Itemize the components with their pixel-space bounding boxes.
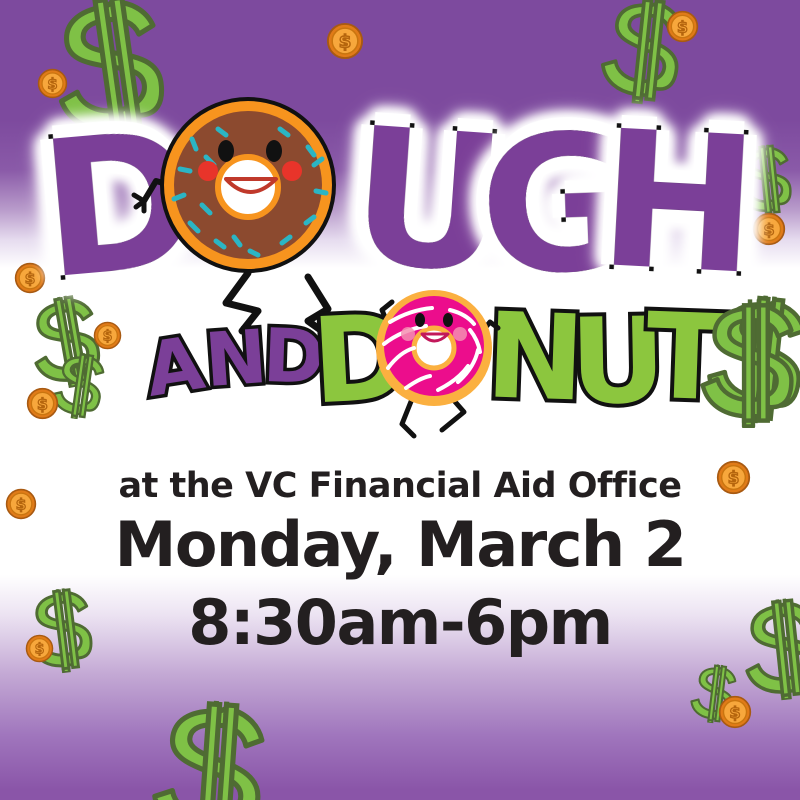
title-dollar-sign-donuts <box>698 292 800 428</box>
poster-canvas: $$$$$$$$$$$ D U G H <box>0 0 800 800</box>
title-artwork: D U G H <box>0 0 800 800</box>
title-letter-a: A <box>141 326 209 408</box>
date-line: Monday, March 2 <box>0 508 800 581</box>
time-line: 8:30am-6pm <box>0 586 800 659</box>
venue-line: at the VC Financial Aid Office <box>0 466 800 506</box>
title-letter-n: N <box>202 320 269 398</box>
pink-donut-character <box>366 286 536 446</box>
title-letter-h: H <box>595 106 762 302</box>
